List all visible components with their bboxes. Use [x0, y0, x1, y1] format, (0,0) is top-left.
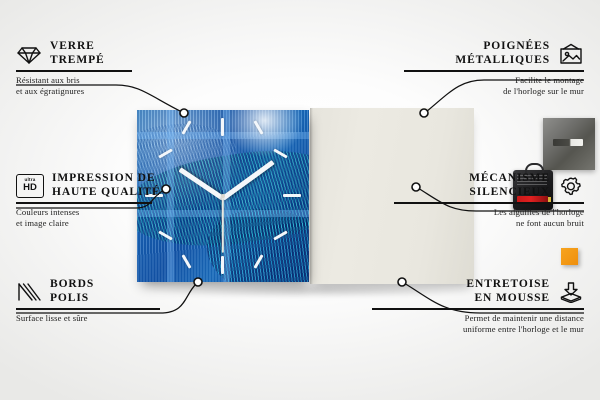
callout-mecanisme-silencieux[interactable]: MÉCANISME SILENCIEUX Les aiguilles de l'… — [394, 172, 584, 229]
foam-spacer-arrow-icon — [558, 281, 584, 303]
callout-subtitle-line1: Facilite le montage — [404, 75, 584, 86]
callout-subtitle-line1: Couleurs intenses — [16, 207, 196, 218]
second-hand — [222, 197, 224, 253]
hanger-slot — [553, 139, 583, 146]
callout-bords-polis[interactable]: BORDS POLIS Surface lisse et sûre — [16, 278, 196, 324]
callout-subtitle-line2: ne font aucun bruit — [394, 218, 584, 229]
callout-title-line1: MÉCANISME — [469, 172, 550, 186]
callout-subtitle-line2: et image claire — [16, 218, 196, 229]
callout-title-line1: POIGNÉES — [455, 40, 550, 54]
tick-3 — [283, 194, 301, 197]
picture-hanger-icon — [558, 43, 584, 65]
callout-rule — [394, 202, 584, 204]
callout-subtitle-line1: Permet de maintenir une distance — [372, 313, 584, 324]
callout-poignees-metalliques[interactable]: POIGNÉES MÉTALLIQUES Facilite le montage… — [404, 40, 584, 97]
callout-header: MÉCANISME SILENCIEUX — [394, 172, 584, 199]
diamond-icon — [16, 43, 42, 65]
callout-header: VERRE TREMPÉ — [16, 40, 176, 67]
callout-title-line2: HAUTE QUALITÉ — [52, 186, 161, 200]
callout-subtitle-line2: et aux égratignures — [16, 86, 176, 97]
infographic-canvas: VERRE TREMPÉ Résistant aux bris et aux é… — [0, 0, 600, 400]
callout-title-line2: MÉTALLIQUES — [455, 54, 550, 68]
foam-spacer — [561, 248, 578, 265]
callout-title-line2: SILENCIEUX — [469, 186, 550, 200]
callout-title-line1: BORDS — [50, 278, 94, 292]
callout-verre-trempe[interactable]: VERRE TREMPÉ Résistant aux bris et aux é… — [16, 40, 176, 97]
hands-center-pin — [221, 194, 225, 198]
ultra-hd-badge-icon: ultra HD — [16, 174, 44, 198]
callout-subtitle-line2: de l'horloge sur le mur — [404, 86, 584, 97]
callout-title-line2: POLIS — [50, 292, 94, 306]
callout-title-line1: IMPRESSION DE — [52, 172, 161, 186]
callout-title-line2: EN MOUSSE — [466, 292, 550, 306]
badge-hd-text: HD — [23, 183, 37, 193]
gear-icon — [558, 175, 584, 197]
callout-rule — [16, 308, 160, 310]
callout-subtitle-line2: uniforme entre l'horloge et le mur — [372, 324, 584, 335]
callout-subtitle-line1: Les aiguilles de l'horloge — [394, 207, 584, 218]
callout-header: POIGNÉES MÉTALLIQUES — [404, 40, 584, 67]
callout-rule — [404, 70, 584, 72]
callout-subtitle-line1: Résistant aux bris — [16, 75, 176, 86]
callout-impression-haute-qualite[interactable]: ultra HD IMPRESSION DE HAUTE QUALITÉ Cou… — [16, 172, 196, 229]
callout-subtitle-line1: Surface lisse et sûre — [16, 313, 196, 324]
callout-title-line1: VERRE — [50, 40, 105, 54]
callout-entretoise-en-mousse[interactable]: ENTRETOISE EN MOUSSE Permet de maintenir… — [372, 278, 584, 335]
metal-hanger-plate — [543, 118, 595, 170]
glass-glare — [220, 110, 309, 162]
callout-title-line2: TREMPÉ — [50, 54, 105, 68]
callout-header: ENTRETOISE EN MOUSSE — [372, 278, 584, 305]
callout-header: ultra HD IMPRESSION DE HAUTE QUALITÉ — [16, 172, 196, 199]
callout-rule — [16, 70, 132, 72]
callout-rule — [16, 202, 152, 204]
callout-title-line1: ENTRETOISE — [466, 278, 550, 292]
diagonal-lines-icon — [16, 281, 42, 303]
tick-12 — [221, 118, 224, 136]
tick-6 — [221, 256, 224, 274]
callout-header: BORDS POLIS — [16, 278, 196, 305]
callout-rule — [372, 308, 584, 310]
